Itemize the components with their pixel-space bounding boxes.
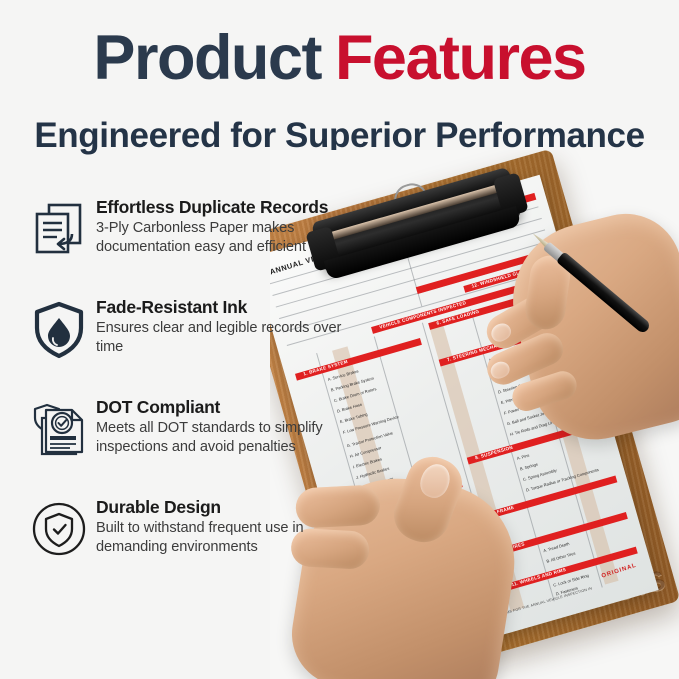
feature-description: Ensures clear and legible records over t…: [96, 319, 356, 356]
fingernail: [488, 359, 512, 381]
fingernail: [416, 460, 454, 502]
page-title-part2: Features: [335, 23, 586, 93]
product-features-infographic: ProductFeatures Engineered for Superior …: [0, 0, 679, 679]
feature-item-durable-design: Durable Design Built to withstand freque…: [22, 496, 352, 596]
feature-description: 3-Ply Carbonless Paper makes documentati…: [96, 219, 356, 256]
page-title-part1: Product: [93, 23, 321, 93]
feature-item-fade-resistant-ink: Fade-Resistant Ink Ensures clear and leg…: [22, 296, 352, 396]
feature-text: DOT Compliant Meets all DOT standards to…: [96, 396, 356, 456]
feature-title: Effortless Duplicate Records: [96, 196, 356, 218]
feature-list: Effortless Duplicate Records 3-Ply Carbo…: [22, 196, 352, 596]
fingernail: [488, 320, 514, 345]
feature-text: Fade-Resistant Ink Ensures clear and leg…: [96, 296, 356, 356]
feature-item-dot-compliant: DOT Compliant Meets all DOT standards to…: [22, 396, 352, 496]
duplicate-documents-icon: [28, 198, 90, 260]
page-title: ProductFeatures: [0, 22, 679, 94]
shield-ink-drop-icon: [28, 298, 90, 360]
document-check-shield-icon: [28, 398, 90, 460]
shield-check-circle-icon: [28, 498, 90, 560]
feature-title: DOT Compliant: [96, 396, 356, 418]
feature-title: Durable Design: [96, 496, 356, 518]
feature-text: Durable Design Built to withstand freque…: [96, 496, 356, 556]
feature-text: Effortless Duplicate Records 3-Ply Carbo…: [96, 196, 356, 256]
feature-title: Fade-Resistant Ink: [96, 296, 356, 318]
feature-description: Meets all DOT standards to simplify insp…: [96, 419, 356, 456]
feature-item-duplicate-records: Effortless Duplicate Records 3-Ply Carbo…: [22, 196, 352, 296]
feature-description: Built to withstand frequent use in deman…: [96, 519, 356, 556]
